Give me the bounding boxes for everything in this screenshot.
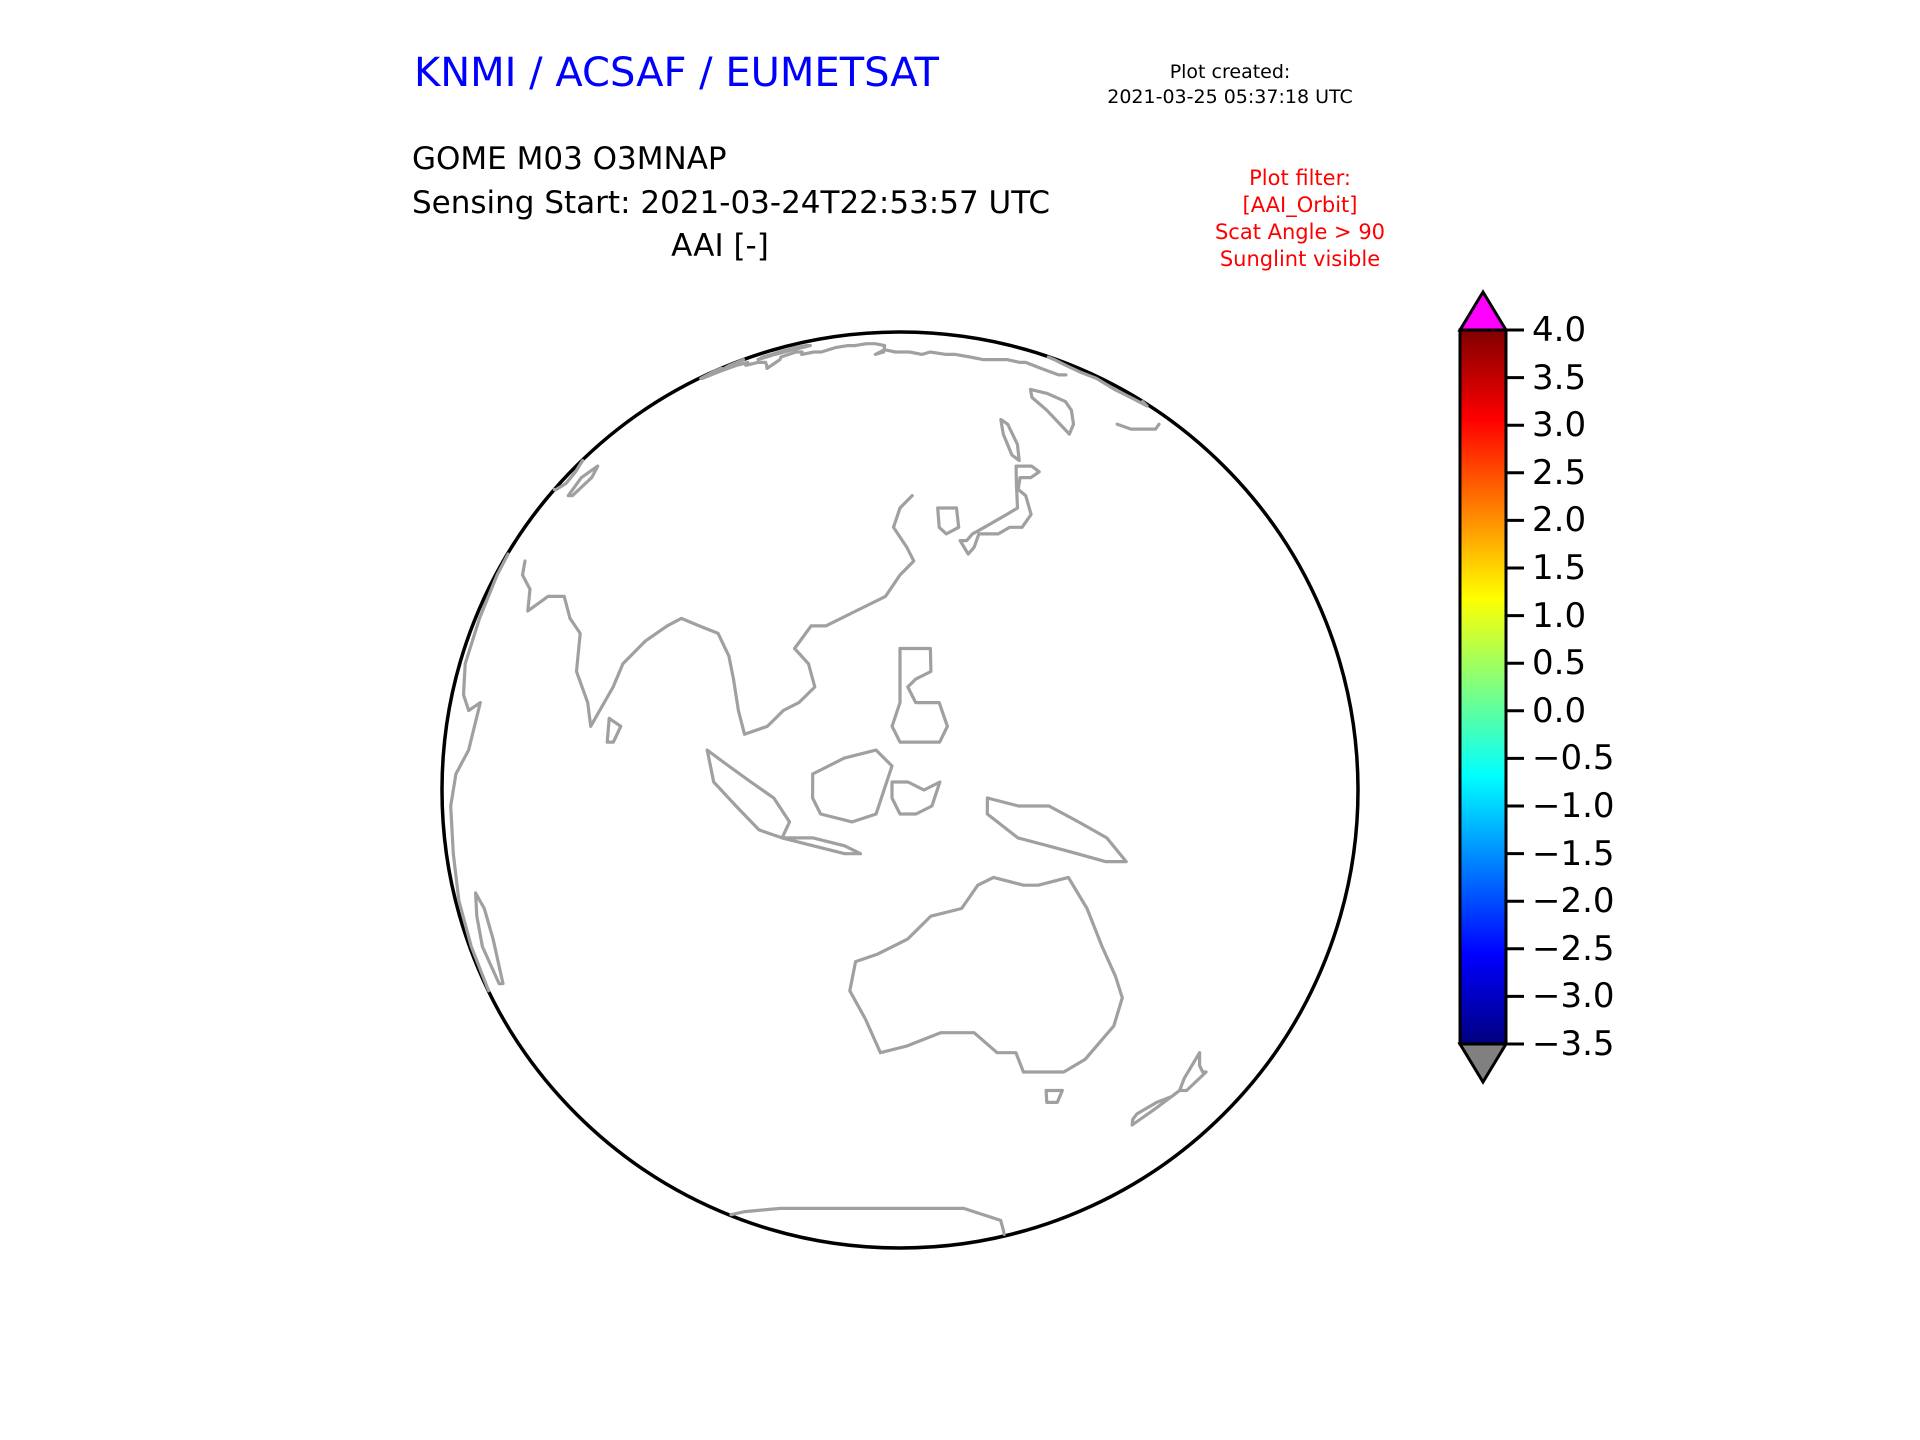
map-vector-layer: [390, 280, 1410, 1300]
sensing-start-title: Sensing Start: 2021-03-24T22:53:57 UTC: [412, 181, 1050, 225]
colorbar-tick-label: 0.0: [1532, 691, 1586, 731]
colorbar-tick-label: 2.0: [1532, 500, 1586, 540]
colorbar-tick-label: 1.5: [1532, 548, 1586, 588]
colorbar-under-arrow: [1460, 1044, 1506, 1082]
colorbar-tick-label: 2.5: [1532, 453, 1586, 493]
colorbar-outline: [1460, 330, 1506, 1044]
plot-created-value: 2021-03-25 05:37:18 UTC: [1020, 85, 1440, 110]
colorbar-over-arrow: [1460, 292, 1506, 330]
plot-filter-block: Plot filter: [AAI_Orbit] Scat Angle > 90…: [1160, 165, 1440, 273]
plot-created-label: Plot created:: [1020, 60, 1440, 85]
colorbar-tick-label: −0.5: [1532, 738, 1615, 778]
agency-title: KNMI / ACSAF / EUMETSAT: [414, 50, 939, 96]
colorbar-tick-label: −2.0: [1532, 881, 1615, 921]
colorbar-frame: [1440, 280, 1840, 1100]
filter-line-1: [AAI_Orbit]: [1160, 192, 1440, 219]
filter-line-0: Plot filter:: [1160, 165, 1440, 192]
colorbar-area: 4.03.53.02.52.01.51.00.50.0−0.5−1.0−1.5−…: [1440, 280, 1840, 1100]
colorbar-tick-label: 3.5: [1532, 358, 1586, 398]
colorbar-tick-label: 1.0: [1532, 596, 1586, 636]
title-block: GOME M03 O3MNAP Sensing Start: 2021-03-2…: [412, 137, 1050, 225]
map-plot-area: [390, 280, 1410, 1300]
filter-line-3: Sunglint visible: [1160, 246, 1440, 273]
colorbar-tick-label: 4.0: [1532, 310, 1586, 350]
instrument-title: GOME M03 O3MNAP: [412, 137, 1050, 181]
filter-line-2: Scat Angle > 90: [1160, 219, 1440, 246]
colorbar-tick-label: −2.5: [1532, 929, 1615, 969]
colorbar-tick-label: −1.5: [1532, 834, 1615, 874]
globe-outline: [442, 332, 1358, 1248]
colorbar-tick-label: −3.0: [1532, 976, 1615, 1016]
colorbar-tick-label: 0.5: [1532, 643, 1586, 683]
plot-page: KNMI / ACSAF / EUMETSAT Plot created: 20…: [0, 0, 1920, 1440]
colorbar-tick-label: 3.0: [1532, 405, 1586, 445]
colorbar-tick-label: −3.5: [1532, 1024, 1615, 1064]
plot-created-block: Plot created: 2021-03-25 05:37:18 UTC: [1020, 60, 1440, 110]
colorbar-tick-label: −1.0: [1532, 786, 1615, 826]
